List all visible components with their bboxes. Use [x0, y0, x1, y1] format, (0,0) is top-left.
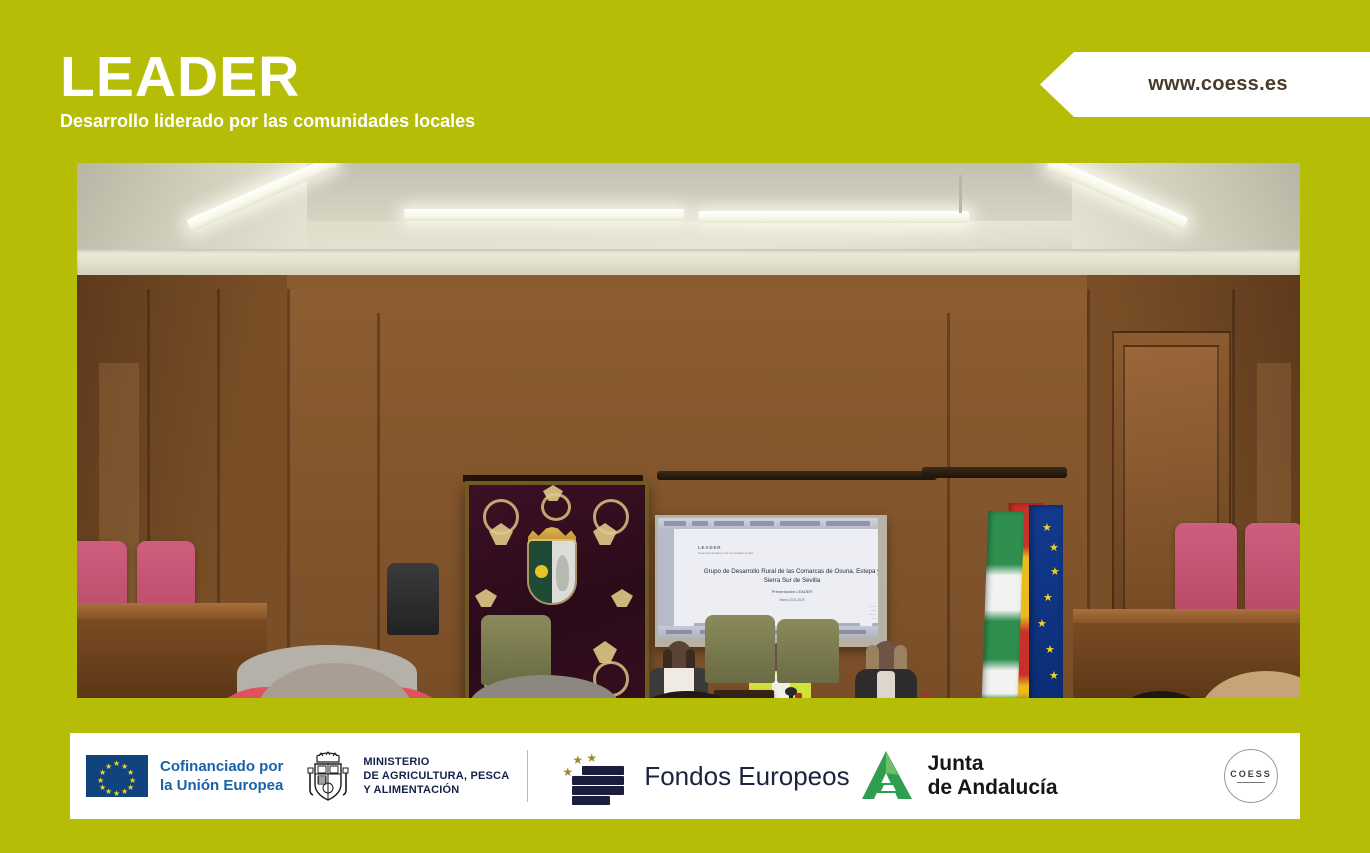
slide-subtitle: Presentación LEADER	[702, 589, 878, 594]
footer-divider	[527, 750, 528, 802]
junta-line1: Junta	[928, 752, 1058, 776]
coess-circle-icon: COESS	[1224, 749, 1278, 803]
slide-panel	[658, 529, 674, 638]
bottle-cap	[923, 693, 930, 698]
website-url: www.coess.es	[1122, 73, 1288, 96]
flag-andalusia	[982, 511, 1025, 698]
slide-body: LEADER Desarrollo liderado por las comun…	[674, 529, 878, 626]
slide-date: Marzo 2024-2025	[702, 598, 878, 602]
light-hanger	[959, 175, 962, 213]
coess-underline	[1237, 782, 1265, 783]
junta-line2: de Andalucía	[928, 776, 1058, 800]
funding-logos-footer: ★ ★ ★ ★ ★ ★ ★ ★ ★ ★ ★ ★ Cofinanciado por…	[70, 733, 1300, 819]
auditorium-seat	[1175, 523, 1237, 613]
logo-european-union: ★ ★ ★ ★ ★ ★ ★ ★ ★ ★ ★ ★ Cofinanciado por…	[70, 733, 283, 819]
slide-window-toolbar	[658, 518, 878, 529]
page-subtitle: Desarrollo liderado por las comunidades …	[60, 111, 475, 131]
poster-header: LEADER Desarrollo liderado por las comun…	[0, 0, 1370, 163]
ministry-line1: MINISTERIO	[363, 755, 509, 769]
leader-poster: LEADER Desarrollo liderado por las comun…	[0, 0, 1370, 853]
microphone-head	[785, 687, 797, 696]
eu-funding-text: Cofinanciado por la Unión Europea	[160, 757, 283, 795]
auditorium-seat-olive	[777, 619, 839, 683]
brand-block: LEADER Desarrollo liderado por las comun…	[60, 48, 475, 131]
laptop	[714, 690, 774, 698]
curtain-rail	[657, 471, 937, 480]
logo-junta-andalucia: Junta de Andalucía	[850, 733, 1058, 819]
ministry-line3: Y ALIMENTACIÓN	[363, 783, 509, 797]
curtain-rail	[922, 467, 1067, 478]
eu-funding-line2: la Unión Europea	[160, 776, 283, 795]
junta-andalucia-text: Junta de Andalucía	[928, 752, 1058, 800]
auditorium-seat-olive	[705, 615, 775, 683]
page-title: LEADER	[60, 48, 475, 106]
slide-title: Grupo de Desarrollo Rural de las Comarca…	[702, 567, 878, 585]
auditorium-seat-dark	[387, 563, 439, 635]
fondos-europeos-label: Fondos Europeos	[644, 761, 849, 792]
panel-seam	[287, 289, 290, 698]
spain-coat-of-arms-icon	[305, 748, 351, 804]
ministry-text: MINISTERIO DE AGRICULTURA, PESCA Y ALIME…	[363, 755, 509, 797]
presenter-right-top	[877, 671, 895, 698]
fondos-europeos-icon: ★ ★ ★	[560, 750, 630, 802]
eu-funding-line1: Cofinanciado por	[160, 757, 283, 776]
eu-flag-icon: ★ ★ ★ ★ ★ ★ ★ ★ ★ ★ ★ ★	[86, 755, 148, 797]
coat-of-arms-shield	[529, 541, 575, 603]
event-photo: LEADER Desarrollo liderado por las comun…	[77, 163, 1300, 698]
logo-ministry: MINISTERIO DE AGRICULTURA, PESCA Y ALIME…	[283, 733, 509, 819]
slide-logo: LEADER	[698, 545, 721, 550]
panel-seam	[947, 313, 950, 698]
logo-coess: COESS	[1224, 733, 1300, 819]
logo-fondos-europeos: ★ ★ ★ Fondos Europeos	[546, 733, 849, 819]
junta-andalucia-icon	[862, 749, 916, 803]
slide-logo-subtitle: Desarrollo liderado por las comunidades …	[698, 552, 753, 555]
ceiling-light	[404, 209, 684, 221]
ministry-line2: DE AGRICULTURA, PESCA	[363, 769, 509, 783]
coess-label: COESS	[1230, 769, 1272, 779]
panel-seam	[377, 313, 380, 698]
flag-european-union: ★ ★ ★ ★ ★ ★ ★	[1029, 505, 1063, 698]
ceiling-panel	[267, 163, 1127, 221]
website-badge[interactable]: www.coess.es	[1040, 52, 1370, 117]
auditorium-seat	[1245, 523, 1300, 613]
ceiling-light	[699, 211, 969, 223]
